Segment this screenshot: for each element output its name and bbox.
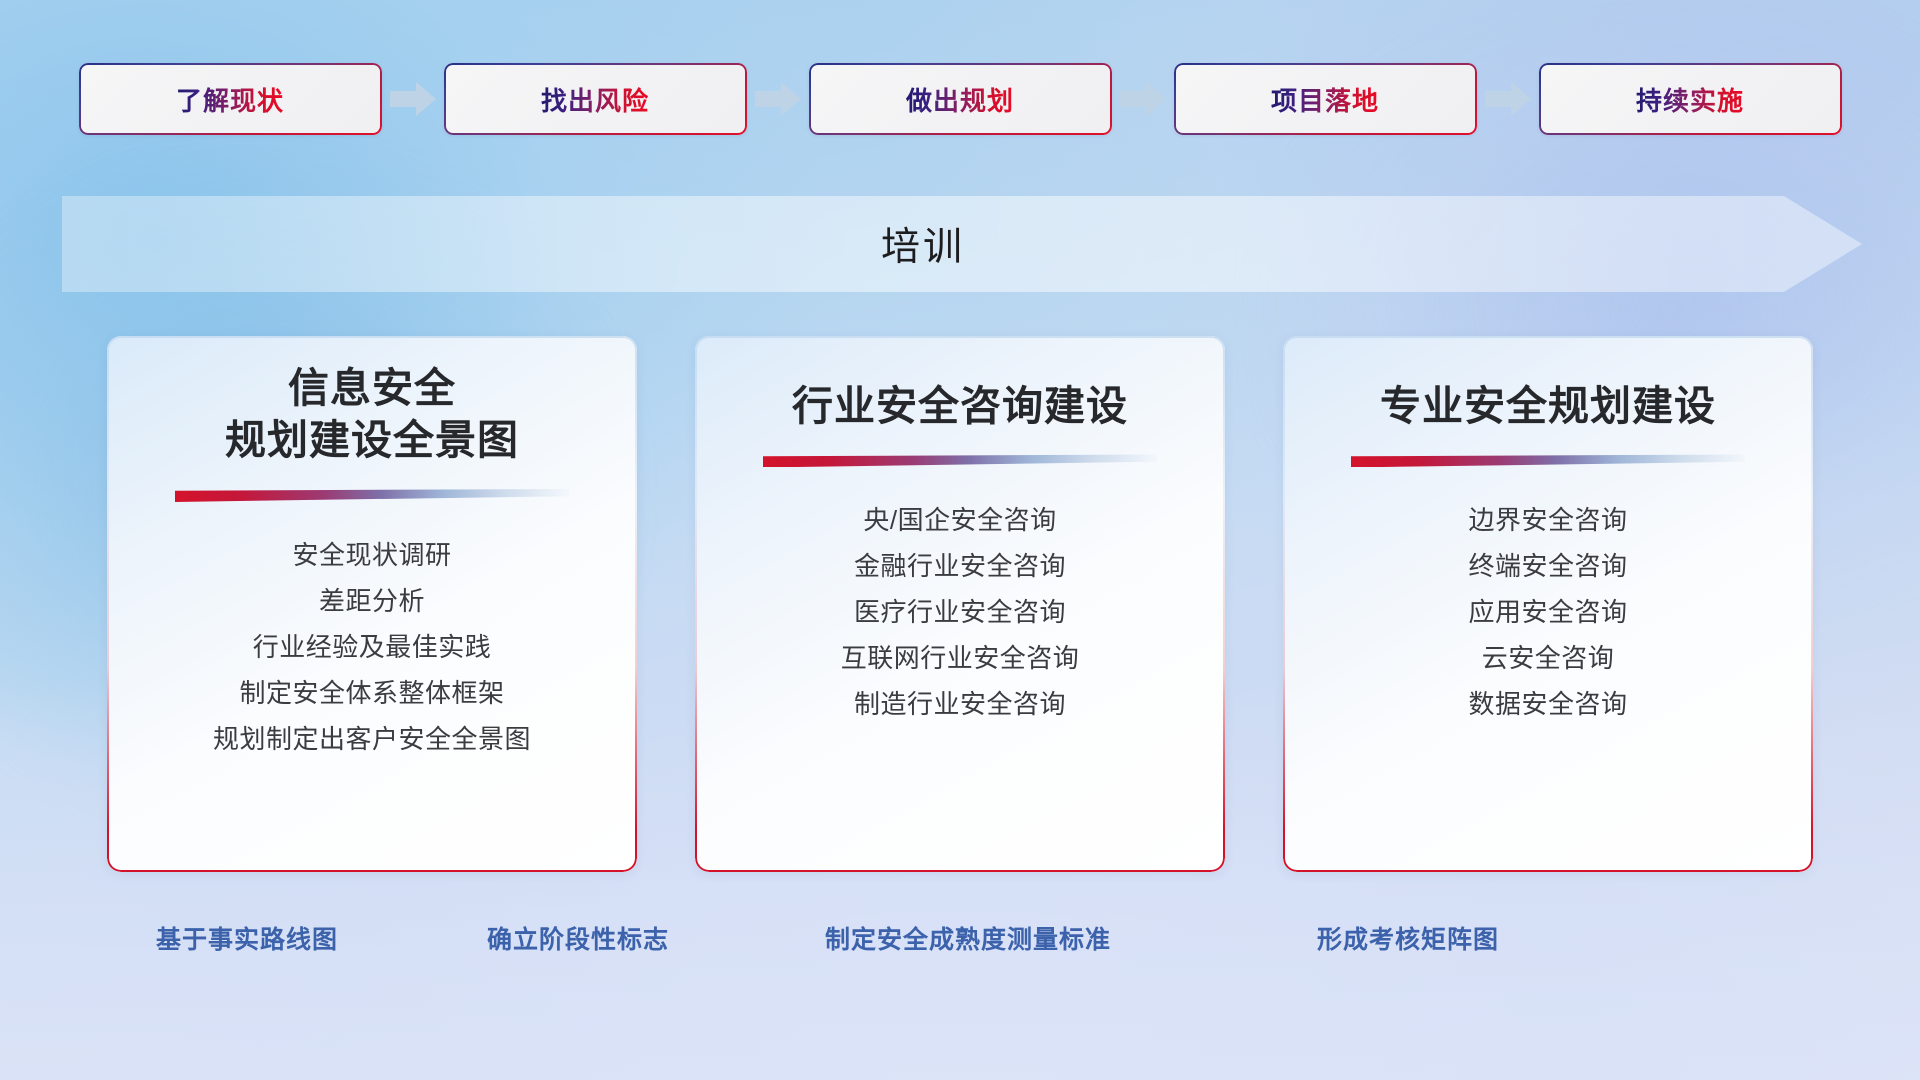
service-card-title-line: 信息安全 (125, 362, 619, 414)
process-step-4[interactable]: 项目落地 (1174, 63, 1477, 135)
service-card-divider-bar (175, 489, 569, 502)
service-card-divider (763, 454, 1157, 467)
service-card-list-item[interactable]: 规划制定出客户安全全景图 (213, 716, 531, 762)
service-card-title-line: 专业安全规划建设 (1301, 380, 1795, 432)
service-card-3[interactable]: 专业安全规划建设边界安全咨询终端安全咨询应用安全咨询云安全咨询数据安全咨询 (1283, 336, 1813, 872)
service-card-list-item[interactable]: 行业经验及最佳实践 (253, 624, 492, 670)
service-card-list-item[interactable]: 应用安全咨询 (1468, 589, 1627, 635)
service-card-divider (175, 489, 569, 502)
service-card-list-item[interactable]: 云安全咨询 (1482, 635, 1615, 681)
process-step-label: 找出风险 (541, 81, 649, 118)
service-card-list-item[interactable]: 互联网行业安全咨询 (841, 635, 1080, 681)
process-step-label: 项目落地 (1271, 81, 1379, 118)
service-card-title: 专业安全规划建设 (1283, 380, 1813, 432)
service-card-list-item[interactable]: 金融行业安全咨询 (854, 543, 1066, 589)
service-card-title: 信息安全规划建设全景图 (107, 362, 637, 467)
service-cards-row: 信息安全规划建设全景图安全现状调研差距分析行业经验及最佳实践制定安全体系整体框架… (0, 336, 1920, 872)
service-card-title: 行业安全咨询建设 (695, 380, 1225, 432)
service-card-2[interactable]: 行业安全咨询建设央/国企安全咨询金融行业安全咨询医疗行业安全咨询互联网行业安全咨… (695, 336, 1225, 872)
arrow-right-icon (747, 62, 809, 136)
service-card-list-item[interactable]: 安全现状调研 (292, 532, 451, 578)
process-step-label: 做出规划 (906, 81, 1014, 118)
service-card-list: 安全现状调研差距分析行业经验及最佳实践制定安全体系整体框架规划制定出客户安全全景… (107, 532, 637, 762)
service-card-list: 边界安全咨询终端安全咨询应用安全咨询云安全咨询数据安全咨询 (1283, 497, 1813, 727)
service-card-title-line: 规划建设全景图 (125, 414, 619, 466)
service-card-list-item[interactable]: 央/国企安全咨询 (863, 497, 1056, 543)
service-card-list-item[interactable]: 边界安全咨询 (1468, 497, 1627, 543)
training-banner-label: 培训 (62, 196, 1862, 292)
service-card-wrapper: 行业安全咨询建设央/国企安全咨询金融行业安全咨询医疗行业安全咨询互联网行业安全咨… (695, 336, 1225, 872)
service-card-list-item[interactable]: 医疗行业安全咨询 (854, 589, 1066, 635)
process-step-1[interactable]: 了解现状 (79, 63, 382, 135)
arrow-right-icon (1477, 62, 1539, 136)
caption-row: 基于事实路线图确立阶段性标志制定安全成熟度测量标准形成考核矩阵图 (0, 920, 1920, 964)
service-card-divider-bar (1351, 454, 1745, 467)
process-step-label: 持续实施 (1636, 81, 1744, 118)
arrow-right-icon (1112, 62, 1174, 136)
arrow-right-icon (382, 62, 444, 136)
service-card-list-item[interactable]: 制定安全体系整体框架 (239, 670, 504, 716)
caption-label: 形成考核矩阵图 (1317, 920, 1499, 956)
service-card-list-item[interactable]: 终端安全咨询 (1468, 543, 1627, 589)
service-card-list: 央/国企安全咨询金融行业安全咨询医疗行业安全咨询互联网行业安全咨询制造行业安全咨… (695, 497, 1225, 727)
caption-label: 制定安全成熟度测量标准 (825, 920, 1111, 956)
training-banner: 培训 (62, 196, 1862, 292)
service-card-1[interactable]: 信息安全规划建设全景图安全现状调研差距分析行业经验及最佳实践制定安全体系整体框架… (107, 336, 637, 872)
caption-label: 基于事实路线图 (156, 920, 338, 956)
service-card-title-line: 行业安全咨询建设 (713, 380, 1207, 432)
process-step-2[interactable]: 找出风险 (444, 63, 747, 135)
service-card-list-item[interactable]: 制造行业安全咨询 (854, 681, 1066, 727)
process-step-5[interactable]: 持续实施 (1539, 63, 1842, 135)
service-card-divider (1351, 454, 1745, 467)
caption-label: 确立阶段性标志 (487, 920, 669, 956)
process-step-row: 了解现状找出风险做出规划项目落地持续实施 (0, 62, 1920, 136)
service-card-list-item[interactable]: 差距分析 (319, 578, 425, 624)
service-card-list-item[interactable]: 数据安全咨询 (1468, 681, 1627, 727)
service-card-wrapper: 信息安全规划建设全景图安全现状调研差距分析行业经验及最佳实践制定安全体系整体框架… (107, 336, 637, 872)
service-card-divider-bar (763, 454, 1157, 467)
process-step-3[interactable]: 做出规划 (809, 63, 1112, 135)
service-card-wrapper: 专业安全规划建设边界安全咨询终端安全咨询应用安全咨询云安全咨询数据安全咨询 (1283, 336, 1813, 872)
process-step-label: 了解现状 (176, 81, 284, 118)
